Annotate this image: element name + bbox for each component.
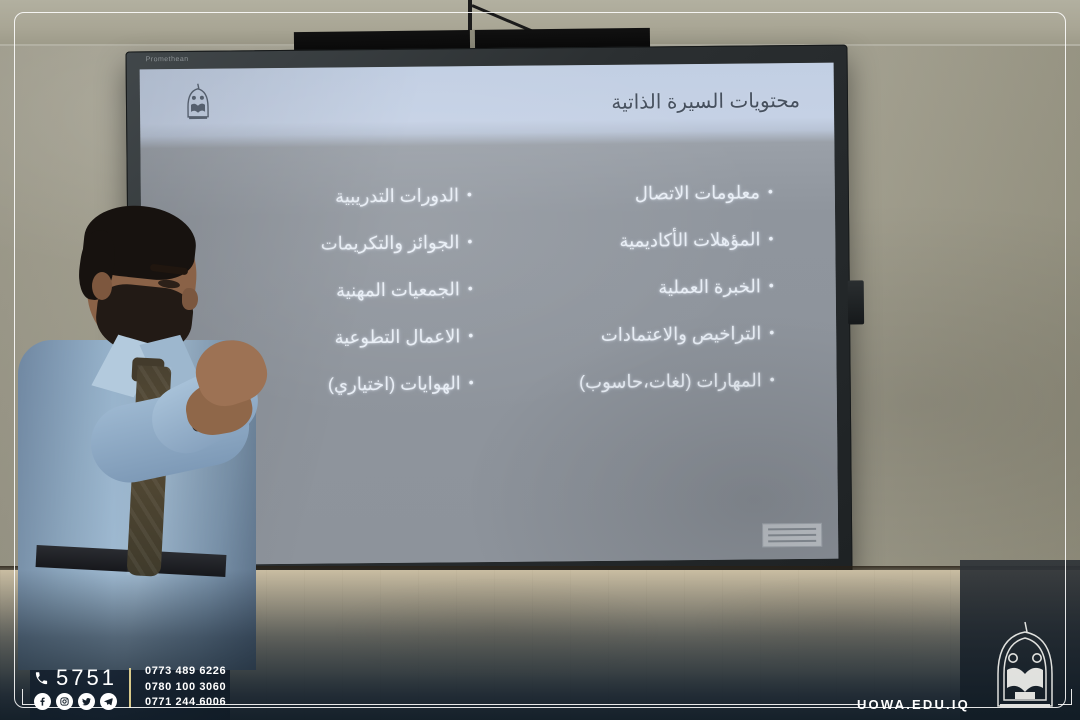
- twitter-icon[interactable]: [78, 693, 95, 710]
- bullet-dot-icon: •: [769, 324, 774, 340]
- footer-line-corner-right: [1071, 689, 1072, 705]
- footer-bar: 5751: [0, 640, 1080, 720]
- slide-title: محتويات السيرة الذاتية: [611, 88, 800, 115]
- instagram-icon[interactable]: [56, 693, 73, 710]
- footer-line-corner-left: [22, 689, 23, 705]
- bullet-text: الجمعيات المهنية: [336, 279, 460, 300]
- contact-left-group: 5751: [34, 667, 117, 710]
- slide-column-right: •معلومات الاتصال •المؤهلات الأكاديمية •ا…: [472, 182, 802, 512]
- slide-bullet-item: •الجمعيات المهنية: [336, 279, 473, 301]
- bullet-text: الهوايات (اختياري): [328, 373, 461, 394]
- bullet-text: الدورات التدريبية: [335, 185, 459, 206]
- university-emblem-icon: [184, 83, 212, 121]
- bullet-text: المؤهلات الأكاديمية: [619, 229, 760, 250]
- bullet-dot-icon: •: [468, 327, 473, 343]
- phone-number-item[interactable]: 0773 489 6226: [145, 665, 226, 679]
- bullet-dot-icon: •: [469, 374, 474, 390]
- bullet-text: معلومات الاتصال: [635, 182, 760, 203]
- slide-bullet-item: •الدورات التدريبية: [335, 185, 472, 207]
- slide-bullet-item: •الجوائز والتكريمات: [321, 232, 473, 254]
- slide-bullet-item: •المؤهلات الأكاديمية: [619, 229, 773, 251]
- slide-bullet-item: •معلومات الاتصال: [635, 182, 773, 204]
- slide-bullet-item: •الهوايات (اختياري): [328, 373, 474, 395]
- slide-bullet-item: •الاعمال التطوعية: [334, 326, 473, 348]
- hotline-row: 5751: [34, 667, 117, 689]
- bullet-dot-icon: •: [768, 230, 773, 246]
- bullet-text: المهارات (لغات،حاسوب): [579, 370, 762, 392]
- website-url[interactable]: UOWA.EDU.IQ: [857, 697, 970, 712]
- bullet-dot-icon: •: [769, 277, 774, 293]
- phone-icon: [34, 671, 49, 686]
- hotline-number[interactable]: 5751: [56, 667, 117, 689]
- phone-number-item[interactable]: 0771 244 6006: [145, 696, 226, 710]
- whiteboard-service-sticker: [762, 523, 822, 548]
- bullet-dot-icon: •: [770, 371, 775, 387]
- uowa-university-logo: [982, 620, 1068, 716]
- social-icons-row: [34, 693, 117, 710]
- bullet-text: الجوائز والتكريمات: [321, 232, 460, 253]
- bullet-text: التراخيص والاعتمادات: [601, 323, 762, 345]
- phone-number-item[interactable]: 0780 100 3060: [145, 681, 226, 695]
- slide-header-band: محتويات السيرة الذاتية: [140, 63, 835, 144]
- whiteboard-brand-label: Promethean: [146, 56, 189, 63]
- presenter-nose: [182, 288, 198, 310]
- contact-divider-bar: [129, 668, 131, 708]
- screenshot-root: Promethean محتويات السيرة الذاتية •معلوم…: [0, 0, 1080, 720]
- slide-bullet-item: •التراخيص والاعتمادات: [601, 323, 775, 346]
- whiteboard-pen-mount[interactable]: [848, 280, 864, 324]
- telegram-icon[interactable]: [100, 693, 117, 710]
- bullet-dot-icon: •: [467, 233, 472, 249]
- contact-block: 5751: [34, 665, 226, 710]
- bullet-text: الخبرة العملية: [658, 276, 761, 297]
- bullet-dot-icon: •: [467, 186, 472, 202]
- bullet-text: الاعمال التطوعية: [334, 326, 460, 347]
- phone-numbers-list: 0773 489 6226 0780 100 3060 0771 244 600…: [145, 665, 226, 710]
- bullet-dot-icon: •: [768, 183, 773, 199]
- footer-divider-line: [196, 704, 865, 705]
- slide-bullet-item: •الخبرة العملية: [658, 276, 774, 298]
- slide-bullet-item: •المهارات (لغات،حاسوب): [579, 370, 775, 393]
- facebook-icon[interactable]: [34, 693, 51, 710]
- presenter-ear: [92, 272, 112, 300]
- bullet-dot-icon: •: [468, 280, 473, 296]
